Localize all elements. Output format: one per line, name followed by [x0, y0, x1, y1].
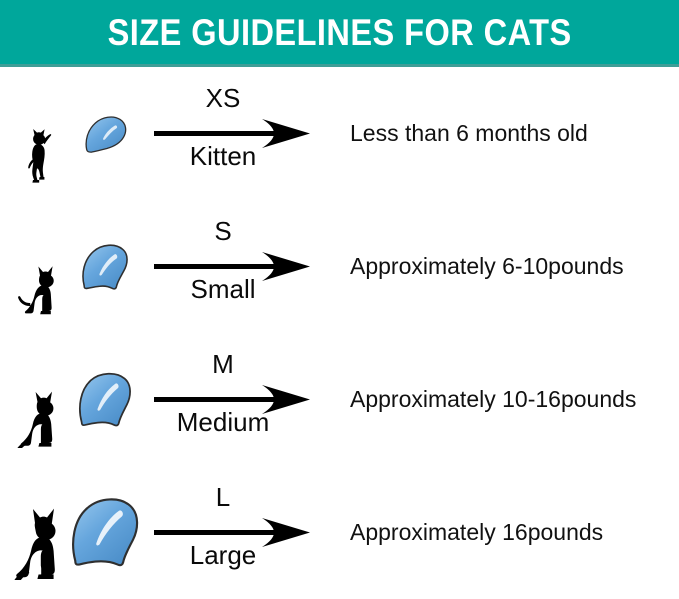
cat-sitting-small-silhouette-icon — [8, 217, 70, 317]
size-arrow-group: L Large — [148, 478, 328, 588]
size-code-label: XS — [148, 83, 298, 114]
size-row: M Medium Approximately 10-16pounds — [0, 333, 679, 466]
page-title: SIZE GUIDELINES FOR CATS — [107, 14, 571, 51]
size-name-label: Medium — [148, 407, 298, 438]
size-code-label: S — [148, 216, 298, 247]
size-description: Less than 6 months old — [328, 120, 679, 147]
size-row: L Large Approximately 16pounds — [0, 466, 679, 599]
nail-cap-s-icon — [70, 217, 142, 317]
size-description: Approximately 10-16pounds — [328, 386, 679, 413]
size-arrow-group: XS Kitten — [148, 79, 328, 189]
nail-cap-xs-icon — [70, 84, 142, 184]
size-arrow-group: S Small — [148, 212, 328, 322]
size-code-label: L — [148, 482, 298, 513]
size-name-label: Kitten — [148, 141, 298, 172]
size-arrow-group: M Medium — [148, 345, 328, 455]
size-code-label: M — [148, 349, 298, 380]
cat-sitting-medium-silhouette-icon — [8, 350, 70, 450]
size-row: S Small Approximately 6-10pounds — [0, 200, 679, 333]
size-name-label: Large — [148, 540, 298, 571]
size-row: XS Kitten Less than 6 months old — [0, 67, 679, 200]
size-guide-rows: XS Kitten Less than 6 months old — [0, 67, 679, 599]
header-banner: SIZE GUIDELINES FOR CATS — [0, 0, 679, 64]
nail-cap-m-icon — [70, 350, 142, 450]
cat-sitting-large-silhouette-icon — [8, 483, 70, 583]
size-description: Approximately 16pounds — [328, 519, 679, 546]
nail-cap-l-icon — [70, 483, 142, 583]
size-description: Approximately 6-10pounds — [328, 253, 679, 280]
size-name-label: Small — [148, 274, 298, 305]
cat-standing-kitten-silhouette-icon — [8, 84, 70, 184]
